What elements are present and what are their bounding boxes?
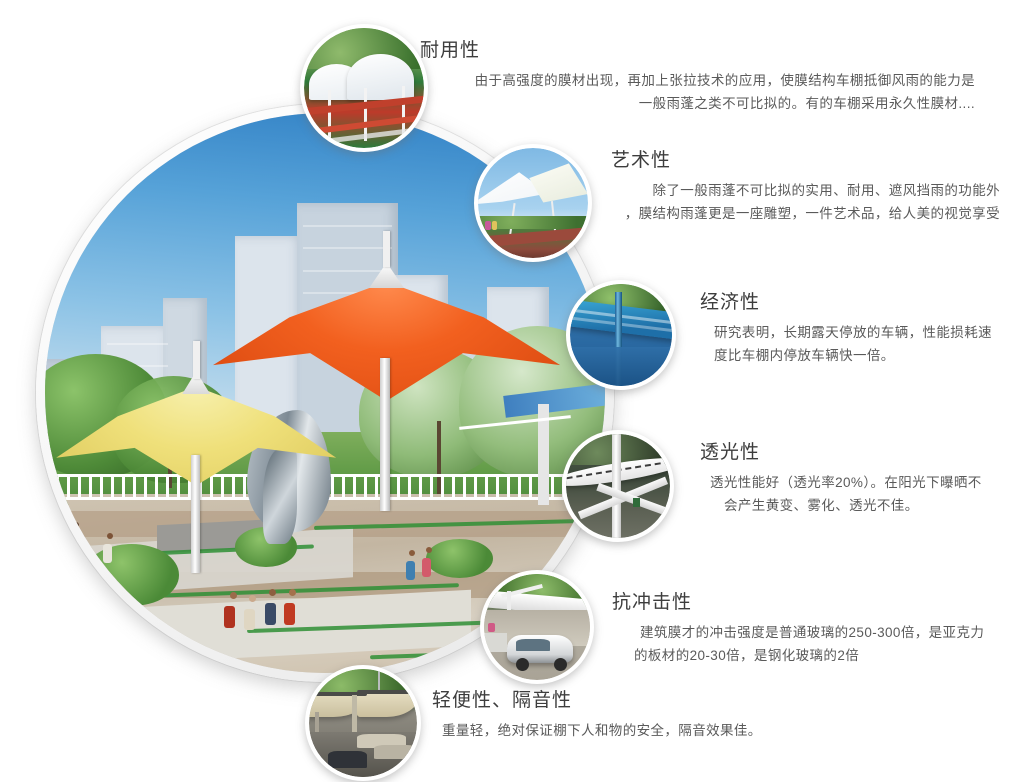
pedestrian-head: [249, 595, 256, 602]
pedestrian: [406, 561, 415, 580]
feature-body-line: 由于高强度的膜材出现，再加上张拉技术的应用，使膜结构车棚抵御风雨的能力是: [420, 69, 975, 92]
thumb-car-wheel: [516, 658, 529, 671]
feature-body-line: 会产生黄变、雾化、透光不佳。: [700, 494, 1000, 517]
pedestrian-head: [409, 550, 415, 556]
thumb-parked-car: [374, 745, 417, 759]
feature-text-translucency: 透光性 透光性能好（透光率20%）。在阳光下曝晒不 会产生黄变、雾化、透光不佳。: [700, 442, 1000, 517]
feature-thumb-economy[interactable]: [566, 280, 676, 390]
shrub: [84, 544, 179, 606]
window-band: [303, 225, 393, 227]
mast-column: [191, 455, 201, 573]
feature-body-line: 除了一般雨蓬不可比拟的实用、耐用、遮风挡雨的功能外: [430, 179, 1000, 202]
feature-thumb-translucency[interactable]: [562, 430, 674, 542]
thumb-image-durability: [304, 28, 424, 148]
feature-heading-translucency: 透光性: [700, 442, 1000, 464]
pedestrian-head: [73, 522, 79, 528]
pedestrian-head: [107, 533, 113, 539]
feature-body-line: 透光性能好（透光率20%）。在阳光下曝晒不: [700, 471, 1000, 494]
pedestrian: [103, 544, 112, 563]
feature-body-line: 的板材的20-30倍，是钢化玻璃的2倍: [612, 644, 1012, 667]
pedestrian: [422, 558, 431, 577]
thumb-image-lightweight: [309, 669, 417, 777]
thumb-image-economy: [570, 284, 672, 386]
pedestrian-head: [426, 547, 432, 553]
feature-thumb-impact[interactable]: [480, 570, 594, 684]
pedestrian: [265, 603, 276, 625]
pedestrian: [70, 533, 79, 551]
feature-text-durability: 耐用性 由于高强度的膜材出现，再加上张拉技术的应用，使膜结构车棚抵御风雨的能力是…: [420, 40, 975, 115]
feature-text-artistry: 艺术性 除了一般雨蓬不可比拟的实用、耐用、遮风挡雨的功能外 ，膜结构雨蓬更是一座…: [430, 150, 1000, 225]
feature-heading-durability: 耐用性: [420, 40, 975, 62]
feature-heading-economy: 经济性: [700, 292, 1000, 314]
pedestrian-head: [230, 592, 237, 599]
feature-text-lightweight: 轻便性、隔音性 重量轻，绝对保证棚下人和物的安全，隔音效果佳。: [432, 690, 832, 742]
thumb-second-car: [484, 633, 507, 652]
shrub: [426, 539, 493, 578]
feature-body-line: 重量轻，绝对保证棚下人和物的安全，隔音效果佳。: [432, 719, 832, 742]
pedestrian: [224, 606, 235, 628]
feature-heading-lightweight: 轻便性、隔音性: [432, 690, 832, 712]
thumb-roof-edge: [357, 690, 417, 694]
feature-body-line: ，膜结构雨蓬更是一座雕塑，一件艺术品，给人美的视觉享受: [430, 202, 1000, 225]
thumb-image-impact: [484, 574, 590, 680]
feature-heading-artistry: 艺术性: [611, 150, 1000, 172]
feature-thumb-durability[interactable]: [300, 24, 428, 152]
feature-text-economy: 经济性 研究表明，长期露天停放的车辆，性能损耗速 度比车棚内停放车辆快一倍。: [700, 292, 1000, 367]
thumb-car-wheel: [554, 658, 567, 671]
feature-text-impact: 抗冲击性 建筑膜才的冲击强度是普通玻璃的250-300倍，是亚克力 的板材的20…: [612, 592, 1012, 667]
pedestrian: [284, 603, 295, 625]
feature-heading-impact: 抗冲击性: [612, 592, 1012, 614]
thumb-vertical-post: [612, 434, 621, 538]
thumb-trash-bin: [633, 498, 640, 507]
pedestrian-head: [289, 589, 296, 596]
thumb-glass: [570, 347, 672, 386]
mast-top: [193, 341, 200, 379]
feature-body-line: 一般雨蓬之类不可比拟的。有的车棚采用永久性膜材....: [420, 92, 975, 115]
pedestrian-head: [269, 589, 276, 596]
feature-body-line: 建筑膜才的冲击强度是普通玻璃的250-300倍，是亚克力: [612, 621, 1012, 644]
thumb-track: [478, 227, 588, 248]
feature-body-line: 研究表明，长期露天停放的车辆，性能损耗速: [700, 321, 1000, 344]
mast-top: [383, 231, 390, 267]
infographic-stage: 耐用性 由于高强度的膜材出现，再加上张拉技术的应用，使膜结构车棚抵御风雨的能力是…: [0, 0, 1023, 782]
mast-column: [380, 358, 390, 511]
feature-thumb-lightweight[interactable]: [305, 665, 421, 781]
thumb-car-window: [516, 639, 550, 652]
thumb-person: [488, 623, 495, 632]
pedestrian: [244, 609, 255, 630]
thumb-parked-car-dark: [328, 751, 367, 768]
feature-body-line: 度比车棚内停放车辆快一倍。: [700, 344, 1000, 367]
thumb-image-translucency: [566, 434, 670, 538]
